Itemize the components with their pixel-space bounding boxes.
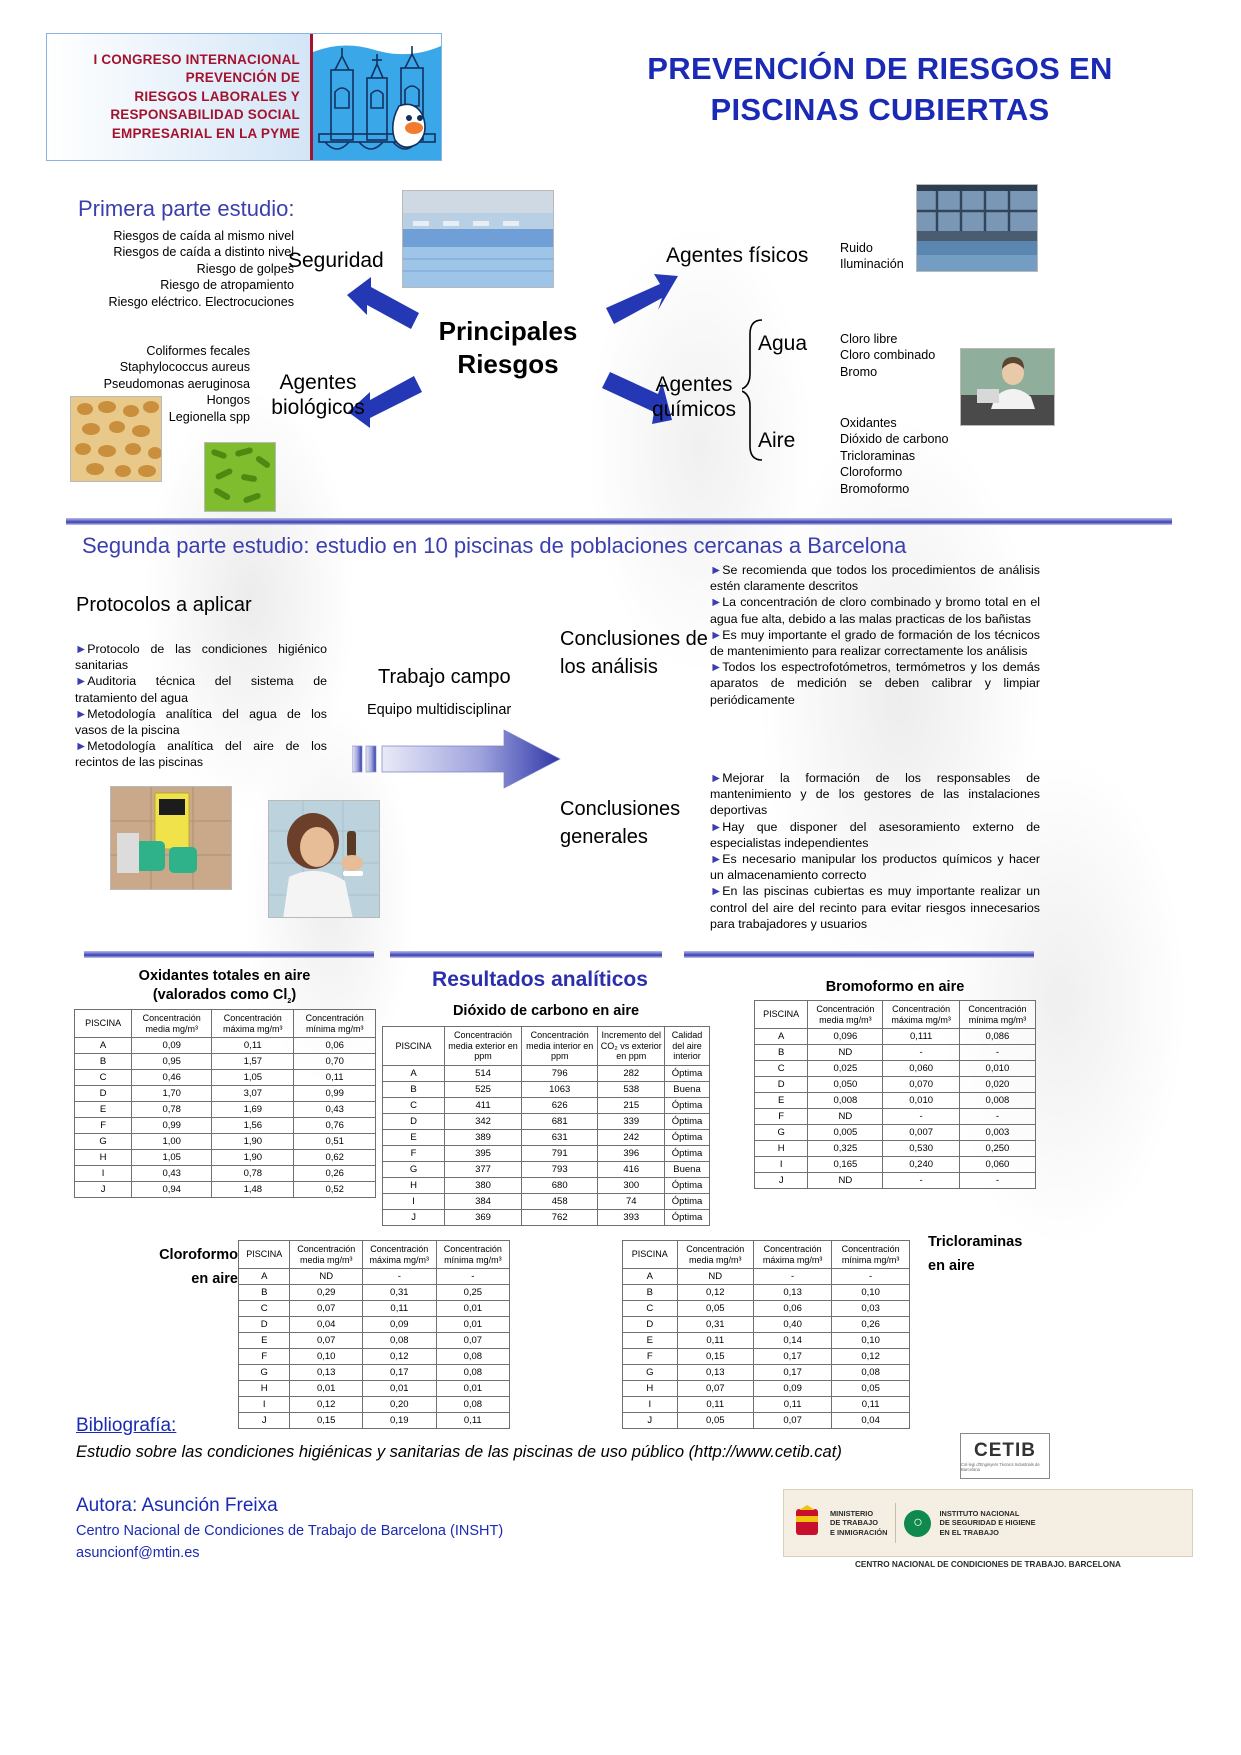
aire-item-1: Dióxido de carbono	[840, 431, 949, 447]
table-cell: 3,07	[212, 1086, 294, 1102]
column-header: Concentración máxima mg/m³	[362, 1241, 436, 1269]
column-header: Concentración mínima mg/m³	[436, 1241, 509, 1269]
agua-item-2: Bromo	[840, 364, 935, 380]
quimicos-label-line-1: Agentes	[638, 372, 750, 397]
table-cell: Óptima	[665, 1177, 710, 1193]
table-row: I0,110,110,11	[623, 1397, 910, 1413]
bibliografia-text: Estudio sobre las condiciones higiénicas…	[76, 1443, 966, 1462]
column-header: PISCINA	[755, 1001, 808, 1029]
table-cell: 538	[598, 1081, 665, 1097]
table-row: C0,050,060,03	[623, 1301, 910, 1317]
table-row: B5251063538Buena	[383, 1081, 710, 1097]
table-cell: 0,01	[436, 1301, 509, 1317]
table-cell: 0,11	[362, 1301, 436, 1317]
table-cell: -	[436, 1269, 509, 1285]
divider-2-left	[84, 951, 374, 958]
table-cell: 458	[521, 1193, 597, 1209]
column-header: PISCINA	[623, 1241, 678, 1269]
center-label-line-1: Principales	[418, 315, 598, 348]
table-cell: 384	[445, 1193, 522, 1209]
table-cell: 0,12	[290, 1397, 362, 1413]
table-cell: 1,90	[212, 1150, 294, 1166]
table-cell: I	[755, 1157, 808, 1173]
table-cell: Óptima	[665, 1065, 710, 1081]
table-cell: 0,060	[959, 1157, 1035, 1173]
table-cell: 0,020	[959, 1077, 1035, 1093]
cathedral-icon	[313, 34, 441, 160]
concl-analisis-text-1: La concentración de cloro combinado y br…	[710, 595, 1040, 625]
table-cell: 1063	[521, 1081, 597, 1097]
table-row: D342681339Óptima	[383, 1113, 710, 1129]
table-cell: E	[755, 1093, 808, 1109]
table-cell: -	[959, 1109, 1035, 1125]
process-arrow-icon	[352, 728, 562, 790]
table-row: C0,461,050,11	[75, 1070, 376, 1086]
oxidantes-title-line-2: (valorados como Cl2)	[72, 986, 377, 1011]
table-cell: 0,12	[677, 1285, 754, 1301]
insht-text: INSTITUTO NACIONAL DE SEGURIDAD E HIGIEN…	[939, 1509, 1035, 1538]
table-cell: F	[623, 1349, 678, 1365]
table-row: D0,0500,0700,020	[755, 1077, 1036, 1093]
column-header: Calidad del aire interior	[665, 1027, 710, 1066]
table-cell: 1,05	[212, 1070, 294, 1086]
table-cell: 380	[445, 1177, 522, 1193]
column-header: Concentración media mg/m³	[290, 1241, 362, 1269]
table-cell: G	[755, 1125, 808, 1141]
table-cell: 0,09	[754, 1381, 832, 1397]
table-row: J0,941,480,52	[75, 1182, 376, 1198]
table-cell: 0,11	[754, 1397, 832, 1413]
table-cell: D	[755, 1077, 808, 1093]
biologicos-item-1: Staphylococcus aureus	[88, 359, 250, 375]
concl-analisis-item-1: ►La concentración de cloro combinado y b…	[710, 594, 1040, 626]
insht-line-3: EN EL TRABAJO	[939, 1528, 1035, 1538]
co2-table: PISCINAConcentración media exterior en p…	[382, 1026, 710, 1226]
resultados-analiticos-heading: Resultados analíticos	[390, 968, 690, 992]
table-row: E0,110,140,10	[623, 1333, 910, 1349]
table-cell: 0,52	[294, 1182, 376, 1198]
table-cell: 514	[445, 1065, 522, 1081]
table-cell: I	[383, 1193, 445, 1209]
concl-analisis-item-0: ►Se recomienda que todos los procedimien…	[710, 562, 1040, 594]
bacteria-colony-photo	[70, 396, 162, 482]
table-cell: Buena	[665, 1161, 710, 1177]
table-header-row: PISCINAConcentración media mg/m³Concentr…	[239, 1241, 510, 1269]
table-row: F0,100,120,08	[239, 1349, 510, 1365]
table-row: E0,781,690,43	[75, 1102, 376, 1118]
table-cell: 215	[598, 1097, 665, 1113]
table-cell: 242	[598, 1129, 665, 1145]
table-cell: H	[239, 1381, 290, 1397]
table-row: B0,951,570,70	[75, 1054, 376, 1070]
bibliografia-heading: Bibliografía:	[76, 1415, 176, 1437]
table-cell: 0,76	[294, 1118, 376, 1134]
table-cell: J	[75, 1182, 132, 1198]
arrow-to-fisicos-icon	[600, 272, 680, 332]
insht-logo-icon: ○	[904, 1510, 931, 1537]
table-cell: Óptima	[665, 1209, 710, 1225]
table-row: G0,0050,0070,003	[755, 1125, 1036, 1141]
agua-label: Agua	[758, 331, 807, 356]
table-header-row: PISCINAConcentración media mg/m³Concentr…	[755, 1001, 1036, 1029]
table-row: I0,430,780,26	[75, 1166, 376, 1182]
column-header: Concentración media mg/m³	[677, 1241, 754, 1269]
table-cell: 0,050	[808, 1077, 883, 1093]
table-cell: I	[75, 1166, 132, 1182]
column-header: PISCINA	[239, 1241, 290, 1269]
table-cell: 0,07	[754, 1413, 832, 1429]
logo-line-4: RESPONSABILIDAD SOCIAL	[110, 106, 300, 125]
table-row: C0,070,110,01	[239, 1301, 510, 1317]
aire-list: Oxidantes Dióxido de carbono Tricloramin…	[840, 415, 949, 497]
divider-2-right	[684, 951, 1034, 958]
poster-title-line-1: PREVENCIÓN DE RIESGOS EN	[560, 48, 1200, 89]
ministry-text: MINISTERIO DE TRABAJO E INMIGRACIÓN	[830, 1509, 887, 1538]
table-row: G377793416Buena	[383, 1161, 710, 1177]
table-row: G0,130,170,08	[623, 1365, 910, 1381]
table-row: H0,070,090,05	[623, 1381, 910, 1397]
table-cell: 0,62	[294, 1150, 376, 1166]
table-row: I38445874Óptima	[383, 1193, 710, 1209]
agentes-fisicos-label: Agentes físicos	[666, 243, 808, 268]
table-row: D1,703,070,99	[75, 1086, 376, 1102]
table-cell: 0,165	[808, 1157, 883, 1173]
table-cell: H	[75, 1150, 132, 1166]
concl-analisis-text-3: Todos los espectrofotómetros, termómetro…	[710, 660, 1040, 706]
table-row: C411626215Óptima	[383, 1097, 710, 1113]
table-cell: 1,48	[212, 1182, 294, 1198]
table-cell: 0,08	[832, 1365, 910, 1381]
cetib-logo-subtext: Col·legi d'Enginyers Tècnics Industrials…	[961, 1462, 1049, 1472]
aire-item-4: Bromoformo	[840, 481, 949, 497]
table-cell: D	[239, 1317, 290, 1333]
table-row: FND--	[755, 1109, 1036, 1125]
table-cell: 0,26	[832, 1317, 910, 1333]
table-cell: 0,12	[832, 1349, 910, 1365]
table-cell: 0,07	[677, 1381, 754, 1397]
table-cell: 791	[521, 1145, 597, 1161]
bromoformo-table: PISCINAConcentración media mg/m³Concentr…	[754, 1000, 1036, 1189]
protocolo-item-3: ►Metodología analítica del aire de los r…	[75, 738, 327, 770]
spain-coat-of-arms-icon	[792, 1503, 822, 1543]
table-cell: 796	[521, 1065, 597, 1081]
table-cell: 0,10	[832, 1333, 910, 1349]
arrow-to-seguridad-icon	[345, 275, 425, 335]
pool-photo	[402, 190, 554, 288]
table-cell: A	[75, 1038, 132, 1054]
table-cell: 389	[445, 1129, 522, 1145]
table-cell: 0,78	[212, 1166, 294, 1182]
table-row: C0,0250,0600,010	[755, 1061, 1036, 1077]
table-cell: 0,111	[883, 1029, 960, 1045]
table-cell: 0,94	[132, 1182, 212, 1198]
table-cell: 395	[445, 1145, 522, 1161]
table-cell: A	[755, 1029, 808, 1045]
table-cell: 0,12	[362, 1349, 436, 1365]
center-label-line-2: Riesgos	[418, 348, 598, 381]
table-cell: Buena	[665, 1081, 710, 1097]
table-cell: 0,086	[959, 1029, 1035, 1045]
table-cell: I	[239, 1397, 290, 1413]
logo-line-1: I CONGRESO INTERNACIONAL	[93, 51, 300, 70]
concl-analisis-text-2: Es muy importante el grado de formación …	[710, 628, 1040, 658]
table-cell: Óptima	[665, 1193, 710, 1209]
protocolo-item-2: ►Metodología analítica del agua de los v…	[75, 706, 327, 738]
table-cell: G	[239, 1365, 290, 1381]
table-cell: 0,11	[294, 1070, 376, 1086]
table-cell: 0,096	[808, 1029, 883, 1045]
column-header: Incremento del CO₂ vs exterior en ppm	[598, 1027, 665, 1066]
table-cell: 0,01	[290, 1381, 362, 1397]
table-cell: 0,070	[883, 1077, 960, 1093]
table-cell: 1,05	[132, 1150, 212, 1166]
table-row: A0,0960,1110,086	[755, 1029, 1036, 1045]
table-cell: 0,010	[959, 1061, 1035, 1077]
table-cell: 793	[521, 1161, 597, 1177]
conclusiones-analisis-list: ►Se recomienda que todos los procedimien…	[710, 562, 1040, 708]
table-cell: 1,90	[212, 1134, 294, 1150]
table-cell: 0,51	[294, 1134, 376, 1150]
table-cell: F	[75, 1118, 132, 1134]
oxidantes-title-line-1: Oxidantes totales en aire	[72, 967, 377, 986]
indoor-pool-window-photo	[916, 184, 1038, 272]
technician-photo	[960, 348, 1055, 426]
table-cell: 0,99	[132, 1118, 212, 1134]
table-cell: 0,15	[290, 1413, 362, 1429]
table-row: J0,150,190,11	[239, 1413, 510, 1429]
concl-analisis-item-3: ►Todos los espectrofotómetros, termómetr…	[710, 659, 1040, 708]
table-cell: 0,15	[677, 1349, 754, 1365]
table-cell: 0,40	[754, 1317, 832, 1333]
table-cell: D	[383, 1113, 445, 1129]
table-cell: 0,11	[677, 1333, 754, 1349]
table-cell: -	[883, 1109, 960, 1125]
table-cell: 0,95	[132, 1054, 212, 1070]
table-cell: 0,26	[294, 1166, 376, 1182]
agua-list: Cloro libre Cloro combinado Bromo	[840, 331, 935, 380]
table-cell: 0,43	[294, 1102, 376, 1118]
table-row: I0,1650,2400,060	[755, 1157, 1036, 1173]
protocolo-text-0: Protocolo de las condiciones higiénico s…	[75, 642, 327, 672]
table-cell: A	[623, 1269, 678, 1285]
table-cell: E	[623, 1333, 678, 1349]
column-header: Concentración mínima mg/m³	[294, 1010, 376, 1038]
table-cell: 0,25	[436, 1285, 509, 1301]
concl-analisis-text-0: Se recomienda que todos los procedimient…	[710, 563, 1040, 593]
government-logos: MINISTERIO DE TRABAJO E INMIGRACIÓN ○ IN…	[783, 1489, 1193, 1557]
tricloraminas-title-line-1: Tricloraminas	[928, 1230, 1058, 1254]
concl-generales-item-3: ►En las piscinas cubiertas es muy import…	[710, 883, 1040, 932]
table-cell: 0,05	[677, 1301, 754, 1317]
table-row: F0,991,560,76	[75, 1118, 376, 1134]
seguridad-item-4: Riesgo eléctrico. Electrocuciones	[84, 294, 294, 310]
table-cell: C	[75, 1070, 132, 1086]
congress-logo-box: I CONGRESO INTERNACIONAL PREVENCIÓN DE R…	[46, 33, 442, 161]
table-cell: ND	[808, 1109, 883, 1125]
oxidantes-title-pre: (valorados como Cl	[153, 987, 288, 1003]
table-cell: 0,05	[677, 1413, 754, 1429]
table-cell: 0,003	[959, 1125, 1035, 1141]
cloroformo-table: PISCINAConcentración media mg/m³Concentr…	[238, 1240, 510, 1429]
table-cell: 0,19	[362, 1413, 436, 1429]
bromoformo-title: Bromoformo en aire	[752, 978, 1038, 997]
trabajo-campo-label: Trabajo campo	[378, 663, 511, 691]
table-row: I0,120,200,08	[239, 1397, 510, 1413]
table-cell: J	[755, 1173, 808, 1189]
concl-generales-text-3: En las piscinas cubiertas es muy importa…	[710, 884, 1040, 930]
table-cell: 0,31	[362, 1285, 436, 1301]
table-cell: C	[239, 1301, 290, 1317]
worker-sampling-photo	[268, 800, 380, 918]
table-cell: B	[239, 1285, 290, 1301]
seguridad-item-1: Riesgos de caída a distinto nivel	[84, 244, 294, 260]
cetib-logo-text: CETIB	[974, 1440, 1036, 1462]
table-cell: 0,01	[436, 1381, 509, 1397]
logo-line-5: EMPRESARIAL EN LA PYME	[112, 125, 300, 144]
table-cell: Óptima	[665, 1129, 710, 1145]
table-cell: 0,31	[677, 1317, 754, 1333]
table-cell: 0,11	[212, 1038, 294, 1054]
table-cell: 396	[598, 1145, 665, 1161]
table-cell: -	[362, 1269, 436, 1285]
column-header: Concentración mínima mg/m³	[832, 1241, 910, 1269]
table-cell: 300	[598, 1177, 665, 1193]
table-cell: E	[75, 1102, 132, 1118]
table-cell: H	[623, 1381, 678, 1397]
table-cell: 0,008	[959, 1093, 1035, 1109]
table-row: F395791396Óptima	[383, 1145, 710, 1161]
cloroformo-title-line-2: en aire	[130, 1267, 238, 1291]
table-row: A514796282Óptima	[383, 1065, 710, 1081]
fisicos-list: Ruido Iluminación	[840, 240, 904, 273]
poster-title: PREVENCIÓN DE RIESGOS EN PISCINAS CUBIER…	[560, 48, 1200, 130]
table-cell: 0,11	[677, 1397, 754, 1413]
table-cell: 0,10	[290, 1349, 362, 1365]
table-cell: 411	[445, 1097, 522, 1113]
biologicos-label-line-1: Agentes	[258, 370, 378, 395]
protocolo-text-1: Auditoria técnica del sistema de tratami…	[75, 674, 327, 704]
congress-logo-text: I CONGRESO INTERNACIONAL PREVENCIÓN DE R…	[47, 34, 313, 160]
tricloraminas-title-line-2: en aire	[928, 1254, 1058, 1278]
table-cell: 0,78	[132, 1102, 212, 1118]
divider-1	[66, 518, 1172, 525]
table-cell: ND	[290, 1269, 362, 1285]
table-cell: G	[623, 1365, 678, 1381]
table-cell: Óptima	[665, 1145, 710, 1161]
concl-generales-item-1: ►Hay que disponer del asesoramiento exte…	[710, 819, 1040, 851]
table-cell: 0,29	[290, 1285, 362, 1301]
table-cell: 0,10	[832, 1285, 910, 1301]
table-row: AND--	[623, 1269, 910, 1285]
seguridad-item-3: Riesgo de atropamiento	[84, 277, 294, 293]
table-cell: 0,13	[290, 1365, 362, 1381]
table-cell: 282	[598, 1065, 665, 1081]
table-cell: 1,69	[212, 1102, 294, 1118]
protocolo-text-2: Metodología analítica del agua de los va…	[75, 707, 327, 737]
table-row: A0,090,110,06	[75, 1038, 376, 1054]
column-header: Concentración máxima mg/m³	[212, 1010, 294, 1038]
table-cell: D	[75, 1086, 132, 1102]
gov-divider	[895, 1503, 896, 1543]
seguridad-item-0: Riesgos de caída al mismo nivel	[84, 228, 294, 244]
cetib-logo: CETIB Col·legi d'Enginyers Tècnics Indus…	[960, 1433, 1050, 1479]
table-cell: 0,20	[362, 1397, 436, 1413]
table-cell: J	[239, 1413, 290, 1429]
table-cell: 0,240	[883, 1157, 960, 1173]
table-cell: 0,06	[294, 1038, 376, 1054]
table-cell: 0,08	[436, 1397, 509, 1413]
concl-analisis-item-2: ►Es muy importante el grado de formación…	[710, 627, 1040, 659]
table-cell: E	[239, 1333, 290, 1349]
poster-page: I CONGRESO INTERNACIONAL PREVENCIÓN DE R…	[0, 0, 1241, 1755]
column-header: Concentración mínima mg/m³	[959, 1001, 1035, 1029]
table-cell: 0,008	[808, 1093, 883, 1109]
biologicos-item-2: Pseudomonas aeruginosa	[88, 376, 250, 392]
agua-item-0: Cloro libre	[840, 331, 935, 347]
table-header-row: PISCINAConcentración media exterior en p…	[383, 1027, 710, 1066]
concl-generales-text-1: Hay que disponer del asesoramiento exter…	[710, 820, 1040, 850]
table-cell: 0,17	[362, 1365, 436, 1381]
oxidantes-title: Oxidantes totales en aire (valorados com…	[72, 967, 377, 1011]
table-cell: 0,43	[132, 1166, 212, 1182]
protocolo-item-0: ►Protocolo de las condiciones higiénico …	[75, 641, 327, 673]
table-cell: 0,17	[754, 1349, 832, 1365]
aire-item-2: Tricloraminas	[840, 448, 949, 464]
table-cell: F	[383, 1145, 445, 1161]
table-row: D0,310,400,26	[623, 1317, 910, 1333]
concl-generales-text-2: Es necesario manipular los productos quí…	[710, 852, 1040, 882]
table-cell: 0,08	[436, 1365, 509, 1381]
table-cell: 0,007	[883, 1125, 960, 1141]
protocolo-item-1: ►Auditoria técnica del sistema de tratam…	[75, 673, 327, 705]
table-cell: -	[832, 1269, 910, 1285]
table-cell: 762	[521, 1209, 597, 1225]
table-cell: 1,70	[132, 1086, 212, 1102]
table-row: BND--	[755, 1045, 1036, 1061]
table-cell: 0,17	[754, 1365, 832, 1381]
table-cell: 0,14	[754, 1333, 832, 1349]
column-header: PISCINA	[75, 1010, 132, 1038]
table-cell: E	[383, 1129, 445, 1145]
co2-title: Dióxido de carbono en aire	[380, 1002, 712, 1021]
author-email: asuncionf@mtin.es	[76, 1543, 200, 1563]
table-cell: 0,04	[832, 1413, 910, 1429]
author-center: Centro Nacional de Condiciones de Trabaj…	[76, 1521, 503, 1541]
author-name: Autora: Asunción Freixa	[76, 1493, 278, 1518]
protocolos-title: Protocolos a aplicar	[76, 591, 252, 619]
column-header: Concentración media interior en ppm	[521, 1027, 597, 1066]
table-cell: J	[623, 1413, 678, 1429]
table-cell: 393	[598, 1209, 665, 1225]
table-row: J0,050,070,04	[623, 1413, 910, 1429]
table-cell: 0,99	[294, 1086, 376, 1102]
table-cell: 0,010	[883, 1093, 960, 1109]
table-cell: -	[959, 1173, 1035, 1189]
table-cell: 0,250	[959, 1141, 1035, 1157]
table-cell: 0,025	[808, 1061, 883, 1077]
table-cell: 1,57	[212, 1054, 294, 1070]
table-cell: 0,325	[808, 1141, 883, 1157]
insht-line-1: INSTITUTO NACIONAL	[939, 1509, 1035, 1519]
divider-2-mid	[390, 951, 662, 958]
table-cell: 0,08	[436, 1349, 509, 1365]
table-cell: -	[883, 1173, 960, 1189]
gov-caption: CENTRO NACIONAL DE CONDICIONES DE TRABAJ…	[783, 1560, 1193, 1569]
table-cell: 525	[445, 1081, 522, 1097]
table-cell: A	[239, 1269, 290, 1285]
conclusiones-generales-list: ►Mejorar la formación de los responsable…	[710, 770, 1040, 932]
table-cell: 0,70	[294, 1054, 376, 1070]
